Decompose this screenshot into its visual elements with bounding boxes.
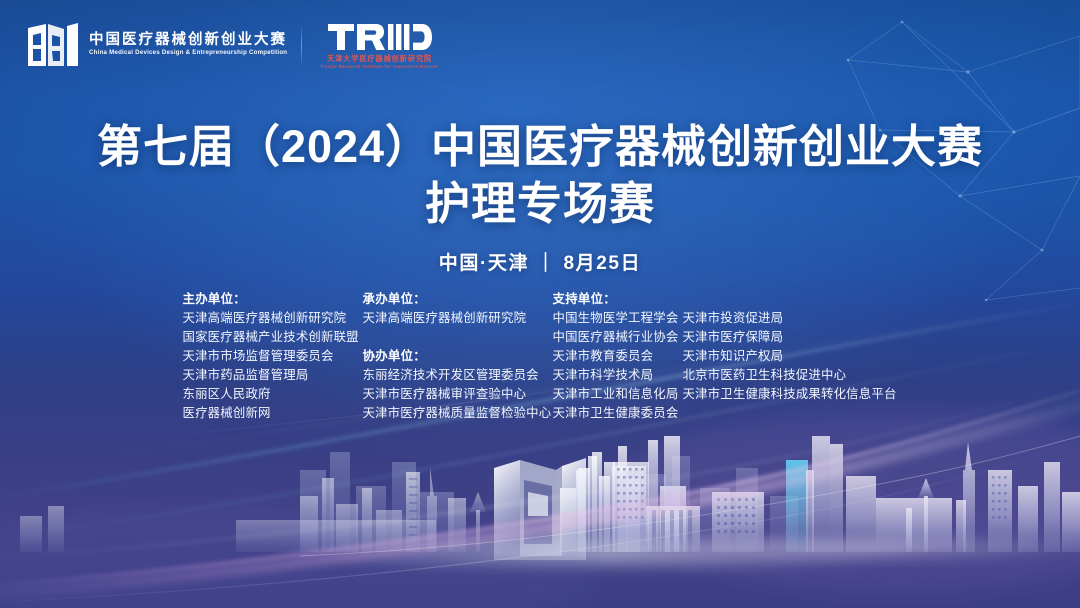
group-spacer	[683, 290, 898, 309]
cyan-accent-tower	[786, 460, 808, 552]
skyline-left-cluster	[578, 440, 658, 552]
org-item: 天津市医疗器械审评查验中心	[363, 385, 553, 404]
org-item: 天津市投资促进局	[683, 309, 898, 328]
group-title: 协办单位：	[363, 347, 553, 366]
org-item: 东丽经济技术开发区管理委员会	[363, 366, 553, 385]
org-item: 中国生物医学工程学会	[553, 309, 683, 328]
skyline-main	[20, 436, 1080, 552]
host-column: 承办单位： 天津高端医疗器械创新研究院 协办单位： 东丽经济技术开发区管理委员会…	[363, 290, 553, 423]
event-poster: 中国医疗器械创新创业大赛 China Medical Devices Desig…	[0, 0, 1080, 608]
org-item: 天津市知识产权局	[683, 347, 898, 366]
org-item: 国家医疗器械产业技术创新联盟	[183, 328, 363, 347]
title-group: 第七届（2024）中国医疗器械创新创业大赛 护理专场赛 中国·天津 ｜ 8月25…	[0, 118, 1080, 273]
competition-logo: 中国医疗器械创新创业大赛 China Medical Devices Desig…	[26, 22, 287, 68]
poster-title-main: 第七届（2024）中国医疗器械创新创业大赛	[0, 118, 1080, 176]
supporter-subcolumn-left: 支持单位： 中国生物医学工程学会 中国医疗器械行业协会 天津市教育委员会 天津市…	[553, 290, 683, 423]
supporter-subcolumn-right: 天津市投资促进局 天津市医疗保障局 天津市知识产权局 北京市医药卫生科技促进中心…	[683, 290, 898, 423]
org-item: 天津市教育委员会	[553, 347, 683, 366]
org-item: 医疗器械创新网	[183, 404, 363, 423]
triid-wordmark-icon	[328, 22, 432, 52]
institute-logo: 天津大学医疗器械创新研究院 Tianjin Research Institute…	[320, 22, 439, 69]
org-item: 天津市市场监督管理委员会	[183, 347, 363, 366]
group-title: 主办单位：	[183, 290, 363, 309]
header-logos: 中国医疗器械创新创业大赛 China Medical Devices Desig…	[26, 22, 439, 69]
org-item: 北京市医药卫生科技促进中心	[683, 366, 898, 385]
competition-logo-text: 中国医疗器械创新创业大赛 China Medical Devices Desig…	[89, 33, 287, 57]
skyline-door-landmark	[494, 458, 586, 560]
supporter-column: 支持单位： 中国生物医学工程学会 中国医疗器械行业协会 天津市教育委员会 天津市…	[553, 290, 898, 423]
org-item: 天津市医疗保障局	[683, 328, 898, 347]
org-item: 天津市科学技术局	[553, 366, 683, 385]
org-item: 天津市卫生健康委员会	[553, 404, 683, 423]
group-spacer	[363, 328, 553, 347]
institute-name-en: Tianjin Research Institute for Innovativ…	[320, 65, 439, 69]
logo-divider	[301, 24, 302, 68]
poster-title-sub: 护理专场赛	[0, 176, 1080, 233]
group-title: 承办单位：	[363, 290, 553, 309]
org-item: 天津高端医疗器械创新研究院	[183, 309, 363, 328]
event-location-date: 中国·天津 ｜ 8月25日	[0, 254, 1080, 273]
group-title: 支持单位：	[553, 290, 683, 309]
org-item: 天津市医疗器械质量监督检验中心	[363, 404, 553, 423]
skyline-far-layer	[300, 452, 798, 550]
org-item: 天津高端医疗器械创新研究院	[363, 309, 553, 328]
open-door-logo-icon	[26, 22, 80, 68]
organizer-column: 主办单位： 天津高端医疗器械创新研究院 国家医疗器械产业技术创新联盟 天津市市场…	[183, 290, 363, 423]
competition-name-cn: 中国医疗器械创新创业大赛	[89, 33, 287, 48]
org-item: 天津市工业和信息化局	[553, 385, 683, 404]
org-item: 天津市药品监督管理局	[183, 366, 363, 385]
org-item: 东丽区人民政府	[183, 385, 363, 404]
organizations-block: 主办单位： 天津高端医疗器械创新研究院 国家医疗器械产业技术创新联盟 天津市市场…	[0, 290, 1080, 423]
competition-name-en: China Medical Devices Design & Entrepren…	[89, 50, 287, 56]
institute-name-cn: 天津大学医疗器械创新研究院	[327, 55, 432, 62]
org-item: 中国医疗器械行业协会	[553, 328, 683, 347]
org-item: 天津市卫生健康科技成果转化信息平台	[683, 385, 898, 404]
